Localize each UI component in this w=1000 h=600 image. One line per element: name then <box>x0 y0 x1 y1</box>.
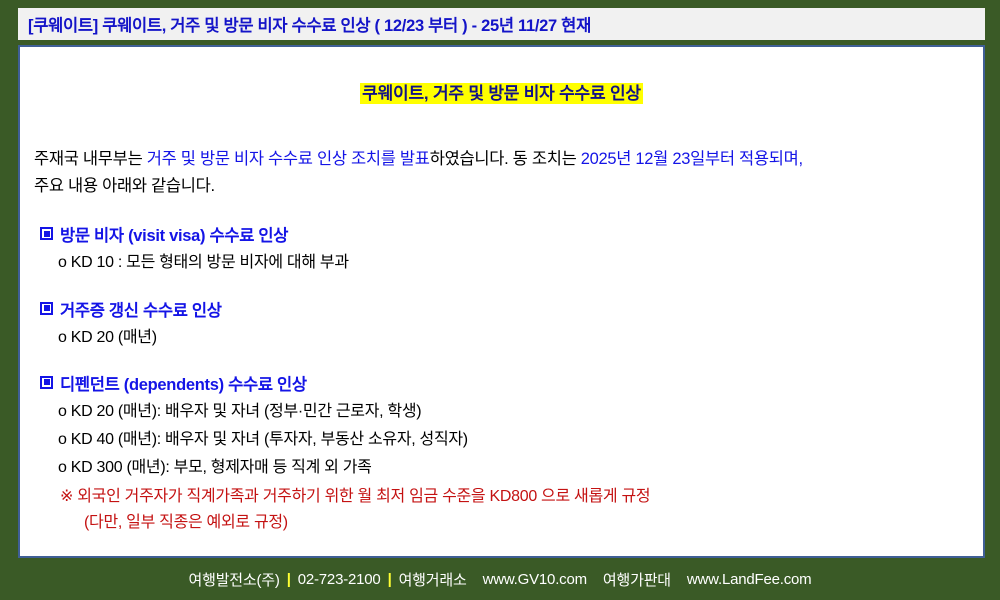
section-residence-renewal: 거주증 갱신 수수료 인상 o KD 20 (매년) <box>40 297 983 349</box>
intro-paragraph: 주재국 내무부는 거주 및 방문 비자 수수료 인상 조치를 발표하였습니다. … <box>34 146 983 200</box>
section-item: o KD 20 (매년) <box>58 326 983 349</box>
section-item: o KD 40 (매년): 배우자 및 자녀 (투자자, 부동산 소유자, 성직… <box>58 428 983 451</box>
footer-label-landfee: 여행가판대 <box>603 569 671 590</box>
footer-separator-2: | <box>388 571 392 588</box>
section-item: o KD 20 (매년): 배우자 및 자녀 (정부·민간 근로자, 학생) <box>58 400 983 423</box>
footer-bar: 여행발전소(주) | 02-723-2100 | 여행거래소 www.GV10.… <box>0 558 1000 600</box>
reference-mark-icon: ※ <box>60 488 73 505</box>
intro-line-1: 주재국 내무부는 거주 및 방문 비자 수수료 인상 조치를 발표하였습니다. … <box>34 146 983 173</box>
square-bullet-icon <box>40 376 53 389</box>
note-text: 외국인 거주자가 직계가족과 거주하기 위한 월 최저 임금 수준을 KD800… <box>77 488 650 505</box>
document-title-row: 쿠웨이트, 거주 및 방문 비자 수수료 인상 <box>20 79 983 104</box>
section-heading-label: 디펜던트 (dependents) 수수료 인상 <box>60 371 307 395</box>
header-bar: [쿠웨이트] 쿠웨이트, 거주 및 방문 비자 수수료 인상 ( 12/23 부… <box>18 8 985 40</box>
note-line: ※ 외국인 거주자가 직계가족과 거주하기 위한 월 최저 임금 수준을 KD8… <box>60 485 983 508</box>
section-heading-row: 거주증 갱신 수수료 인상 <box>40 297 983 321</box>
intro-line-2: 주요 내용 아래와 같습니다. <box>34 173 983 200</box>
content-panel: 쿠웨이트, 거주 및 방문 비자 수수료 인상 주재국 내무부는 거주 및 방문… <box>18 45 985 558</box>
document-title: 쿠웨이트, 거주 및 방문 비자 수수료 인상 <box>360 83 643 104</box>
footer-phone: 02-723-2100 <box>298 571 381 588</box>
note-line-secondary: (다만, 일부 직종은 예외로 규정) <box>84 511 983 534</box>
square-bullet-icon <box>40 302 53 315</box>
intro-text-1: 주재국 내무부는 <box>34 150 147 168</box>
section-visit-visa: 방문 비자 (visit visa) 수수료 인상 o KD 10 : 모든 형… <box>40 222 983 274</box>
footer-company: 여행발전소(주) <box>189 569 280 590</box>
section-heading-label: 방문 비자 (visit visa) 수수료 인상 <box>60 222 288 246</box>
section-item: o KD 300 (매년): 부모, 형제자매 등 직계 외 가족 <box>58 456 983 479</box>
intro-highlight-1: 거주 및 방문 비자 수수료 인상 조치를 발표 <box>147 150 430 168</box>
footer-label-gv10: 여행거래소 <box>399 569 467 590</box>
footer-link-landfee[interactable]: www.LandFee.com <box>687 571 812 588</box>
section-heading-label: 거주증 갱신 수수료 인상 <box>60 297 222 321</box>
header-title: [쿠웨이트] 쿠웨이트, 거주 및 방문 비자 수수료 인상 ( 12/23 부… <box>28 12 591 36</box>
intro-text-2: 하였습니다. 동 조치는 <box>430 150 581 168</box>
section-dependents: 디펜던트 (dependents) 수수료 인상 o KD 20 (매년): 배… <box>40 371 983 534</box>
intro-highlight-2: 2025년 12월 23일부터 적용되며, <box>581 150 803 168</box>
page-root: [쿠웨이트] 쿠웨이트, 거주 및 방문 비자 수수료 인상 ( 12/23 부… <box>0 0 1000 600</box>
footer-separator-1: | <box>287 571 291 588</box>
section-heading-row: 디펜던트 (dependents) 수수료 인상 <box>40 371 983 395</box>
section-item: o KD 10 : 모든 형태의 방문 비자에 대해 부과 <box>58 251 983 274</box>
footer-link-gv10[interactable]: www.GV10.com <box>483 571 587 588</box>
square-bullet-icon <box>40 227 53 240</box>
section-heading-row: 방문 비자 (visit visa) 수수료 인상 <box>40 222 983 246</box>
